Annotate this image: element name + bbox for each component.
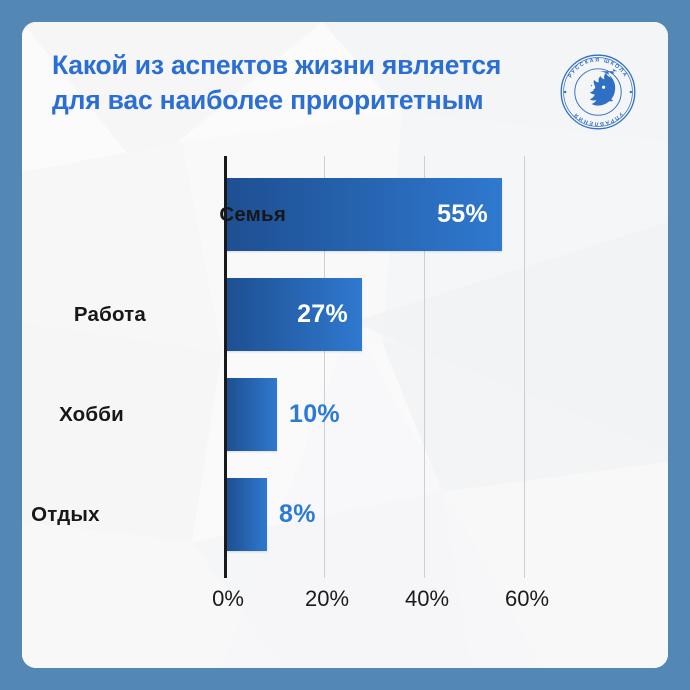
bar-segment[interactable] (227, 378, 277, 451)
bar-row: Семья 55% (227, 178, 502, 251)
category-label: Семья (86, 203, 286, 227)
value-label: 27% (297, 300, 362, 329)
bar-row: Работа 27% (227, 278, 362, 351)
bar-segment[interactable]: 27% (227, 278, 362, 351)
value-label: 55% (437, 200, 502, 229)
x-tick-label: 60% (505, 586, 549, 612)
x-tick-label: 0% (212, 586, 244, 612)
value-label: 8% (267, 500, 316, 529)
category-label: Хобби (22, 403, 124, 427)
value-label: 10% (277, 400, 340, 429)
poster-frame: Какой из аспектов жизни является для вас… (0, 0, 690, 690)
gridline-60 (524, 156, 525, 578)
category-label: Отдых (22, 503, 100, 527)
bar-row: Хобби 10% (227, 378, 340, 451)
category-label: Работа (22, 303, 146, 327)
bar-row: Отдых 8% (227, 478, 316, 551)
bar-segment[interactable] (227, 478, 267, 551)
x-tick-label: 20% (305, 586, 349, 612)
bar-chart: Семья 55% Работа 27% Хобби 10% (22, 22, 668, 668)
poster-canvas: Какой из аспектов жизни является для вас… (22, 22, 668, 668)
plot-area: Семья 55% Работа 27% Хобби 10% (224, 156, 527, 578)
x-tick-label: 40% (405, 586, 449, 612)
x-axis-ticks: 0% 20% 40% 60% (224, 586, 554, 620)
